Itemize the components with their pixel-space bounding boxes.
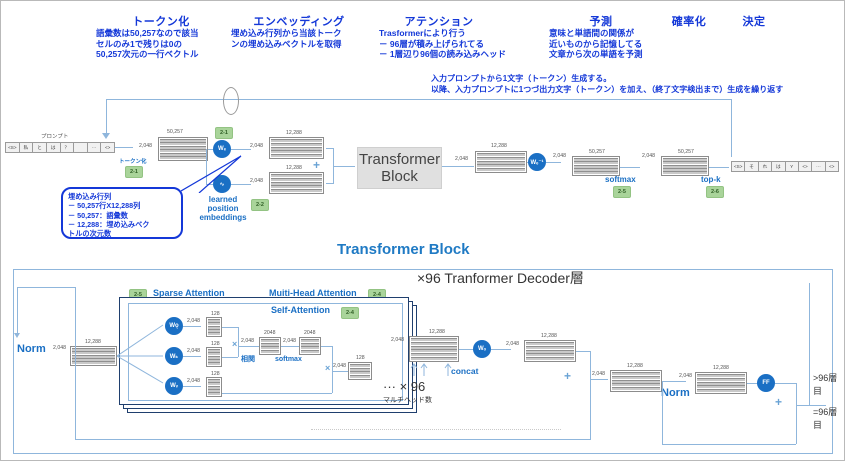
header-attention-desc: Trasformerにより行う － 96層が積み上げられてる － 1層辺り96個…: [379, 28, 554, 60]
wv-circle[interactable]: Wᵥ: [165, 377, 183, 395]
output-token[interactable]: <>: [799, 162, 812, 171]
output-gt96-label: >96層目: [813, 371, 844, 397]
transformer-output-matrix: [475, 151, 527, 173]
proj-cols-label: 12,288: [541, 333, 557, 339]
v-rows-label: 2,048: [187, 378, 200, 384]
residual-output-matrix: [610, 370, 662, 392]
prompt-token[interactable]: と: [33, 143, 47, 152]
probs-cols-label: 50,257: [678, 149, 694, 155]
arrow-residual-to-res: [590, 379, 608, 380]
prompt-token[interactable]: <S>: [6, 143, 20, 152]
prompt-token[interactable]: 私: [20, 143, 34, 152]
residual-vertical: [590, 351, 591, 379]
norm-input-feed-line: [17, 287, 18, 335]
v-route-vertical: [332, 371, 333, 393]
soft-cols-label: 2048: [304, 330, 316, 336]
arrow-weinv-to-logits: [546, 162, 561, 163]
output-token[interactable]: ···: [812, 162, 825, 171]
output-token[interactable]: そ: [745, 162, 758, 171]
wk-circle[interactable]: Wₖ: [165, 347, 183, 365]
logits-rows-label: 2,048: [553, 153, 566, 159]
prompt-token[interactable]: ···: [88, 143, 102, 152]
projection-matrix: [524, 340, 576, 362]
qk-join-vertical: [238, 327, 239, 357]
arrow-score-to-softmax: [281, 346, 301, 347]
arrow-logits-to-probs: [620, 167, 640, 168]
probs-rows-label: 2,048: [642, 153, 655, 159]
attention-output-matrix: [348, 362, 372, 380]
header-prediction-label: 予測: [546, 13, 656, 29]
output-token[interactable]: Y: [786, 162, 799, 171]
q-matrix: [206, 317, 222, 337]
header-probability-label: 確率化: [649, 13, 729, 29]
badge-tokenize: 2-1: [125, 166, 143, 178]
output-token[interactable]: は: [772, 162, 785, 171]
residual-entry-line: [17, 287, 75, 288]
arrow-sum-to-block: [333, 166, 355, 167]
arrow-wk-to-k: [183, 356, 201, 357]
tb-cols-label: 12,288: [491, 143, 507, 149]
transformer-block-line2: Block: [381, 168, 418, 185]
feedback-loop-line-right: [731, 99, 732, 157]
ff-residual-plus: +: [775, 395, 782, 409]
output-branch-vertical: [809, 283, 810, 405]
loop-ellipse-marker: [223, 87, 239, 115]
score-rows-label: 2,048: [241, 338, 254, 344]
prompt-token[interactable]: [74, 143, 88, 152]
k-matrix: [206, 347, 222, 367]
output-token[interactable]: <S>: [732, 162, 745, 171]
transformer-block[interactable]: Transformer Block: [357, 147, 442, 189]
qkv-fanout-lines: [117, 319, 169, 385]
header-attention-label: アテンション: [379, 13, 499, 29]
prompt-token[interactable]: ？: [61, 143, 75, 152]
qk-times-symbol: ×: [232, 339, 237, 349]
output-token[interactable]: れ: [759, 162, 772, 171]
tokenize-step-label: トークン化: [119, 157, 147, 165]
k-rows-label: 2,048: [187, 348, 200, 354]
heads-count-sub: マルチヘッド数: [383, 395, 432, 405]
badge-self-attention: 2-4: [341, 307, 359, 319]
header-embedding-desc: 埋め込み行列から当該トーク ンの埋め込みベクトルを取得: [231, 28, 371, 49]
residual-plus-top: +: [313, 158, 320, 172]
feedback-arrow-down: [102, 133, 110, 139]
generation-loop-note: 入力プロンプトから1文字（トークン）生成する。 以降、入力プロンプトに1つづ出力…: [431, 74, 831, 95]
attention-softmax-label: softmax: [275, 356, 302, 363]
header-embedding-label: エンベッディング: [229, 13, 369, 29]
onehot-rows-label: 2,048: [139, 143, 152, 149]
badge-topk: 2-6: [706, 186, 724, 198]
output-token-strip[interactable]: <S> そ れ は Y <> ··· <>: [731, 161, 839, 172]
arrow-wv-to-v: [183, 386, 201, 387]
arrow-probs-to-out: [709, 167, 729, 168]
header-tokenize-desc: 語彙数は50,257なので該当 セルのみ1で残りは0の 50,257次元の一行ベ…: [96, 28, 236, 60]
diagram-canvas: トークン化 語彙数は50,257なので該当 セルのみ1で残りは0の 50,257…: [0, 0, 845, 461]
tb-rows-label: 2,048: [455, 156, 468, 162]
q-rows-label: 2,048: [187, 318, 200, 324]
arrow-we-to-emb: [231, 149, 251, 150]
bottom-dotted-divider: [311, 429, 561, 447]
correlation-label: 相関: [241, 354, 255, 364]
residual-plus-symbol: +: [564, 369, 571, 383]
res-cols-label: 12,288: [627, 363, 643, 369]
res-rows-label: 2,048: [592, 371, 605, 377]
pos-cols-label: 12,288: [286, 165, 302, 171]
prompt-token[interactable]: は: [47, 143, 61, 152]
badge-embedding: 2-1: [215, 127, 233, 139]
position-embedding-matrix: [269, 172, 324, 194]
concat-input-arrows: [406, 362, 461, 376]
arrow-prompt-to-onehot: [115, 147, 133, 148]
soft-rows-label: 2,048: [283, 338, 296, 344]
topk-label: top-k: [701, 175, 721, 184]
heads-count-note: ··· × 96: [383, 379, 425, 394]
ff-out-vertical: [796, 383, 797, 405]
concat-matrix: [409, 336, 459, 362]
probabilities-matrix: [661, 156, 709, 176]
ff-skip-line: [662, 444, 796, 445]
header-tokenize-label: トークン化: [96, 13, 226, 29]
proj-out-line: [576, 351, 590, 352]
logits-cols-label: 50,257: [589, 149, 605, 155]
v-matrix: [206, 377, 222, 397]
embedding-matrix: [269, 137, 324, 159]
embedding-matrix-callout: 埋め込み行列 － 50,257行X12,288列 － 50,257：語彙数 － …: [61, 187, 183, 239]
prompt-token[interactable]: <>: [101, 143, 114, 152]
proj-rows-label: 2,048: [506, 341, 519, 347]
norm2-label: Norm: [661, 387, 690, 399]
attnout-cols-label: 128: [356, 355, 365, 361]
residual-join-vertical: [590, 379, 591, 439]
av-times-symbol: ×: [325, 363, 330, 373]
wo-circle[interactable]: Wₒ: [473, 340, 491, 358]
arrow-wq-to-q: [183, 326, 201, 327]
norm2-rows-label: 2,048: [679, 373, 692, 379]
prompt-label: プロンプト: [41, 132, 68, 140]
attnout-rows-label: 2,048: [333, 363, 346, 369]
norm-in-cols-label: 12,288: [85, 339, 101, 345]
v-route-line: [222, 393, 332, 394]
norm2-matrix: [695, 372, 747, 394]
prompt-token-strip[interactable]: <S> 私 と は ？ ··· <>: [5, 142, 115, 153]
ff-circle[interactable]: FF: [757, 374, 775, 392]
embedding-matrix-callout-text: 埋め込み行列 － 50,257行X12,288列 － 50,257：語彙数 － …: [68, 192, 176, 238]
score-matrix: [259, 337, 281, 355]
we-inverse-circle[interactable]: Wₑ⁻¹: [528, 153, 546, 171]
transformer-block-line1: Transformer: [359, 151, 440, 168]
ff-join-vertical: [796, 405, 797, 444]
q-join-line: [222, 327, 238, 328]
badge-softmax: 2-5: [613, 186, 631, 198]
arrow-block-to-out: [442, 166, 474, 167]
residual-skip-vertical: [75, 287, 76, 439]
output-token[interactable]: <>: [826, 162, 838, 171]
self-attention-label: Self-Attention: [271, 305, 330, 315]
score-cols-label: 2048: [264, 330, 276, 336]
k-join-line: [222, 357, 238, 358]
softmax-matrix: [299, 337, 321, 355]
ff-out-line: [775, 383, 797, 384]
learned-position-embeddings-label: learned position embeddings: [197, 195, 249, 222]
arrow-wo-to-proj: [491, 349, 511, 350]
concat-rows-label: 2,048: [391, 337, 404, 343]
header-prediction-desc: 意味と単語間の関係が 近いものから記憶してる 文章から次の単語を予測: [549, 28, 699, 60]
wq-circle[interactable]: Wǫ: [165, 317, 183, 335]
feedback-loop-line-horizontal: [106, 99, 731, 100]
norm-input-matrix: [70, 346, 117, 366]
badge-position: 2-2: [251, 199, 269, 211]
output-eq96-label: =96層目: [813, 405, 844, 431]
logits-matrix: [572, 156, 620, 176]
onehot-cols-label: 50,257: [167, 129, 183, 135]
norm-input-label: Norm: [17, 343, 46, 355]
emb-rows-label: 2,048: [250, 143, 263, 149]
emb-cols-label: 12,288: [286, 130, 302, 136]
callout-leader-lines: [181, 153, 259, 193]
arrow-qk-to-score: [238, 346, 260, 347]
header-decision-label: 決定: [719, 13, 789, 29]
ff-skip-vertical: [662, 381, 663, 444]
softmax-label: softmax: [605, 175, 636, 184]
norm2-cols-label: 12,288: [713, 365, 729, 371]
concat-cols-label: 12,288: [429, 329, 445, 335]
feedback-loop-line-left: [106, 99, 107, 137]
arrow-res-to-norm2: [662, 381, 686, 382]
norm-in-rows-label: 2,048: [53, 345, 66, 351]
transformer-detail-title: Transformer Block: [337, 241, 470, 258]
